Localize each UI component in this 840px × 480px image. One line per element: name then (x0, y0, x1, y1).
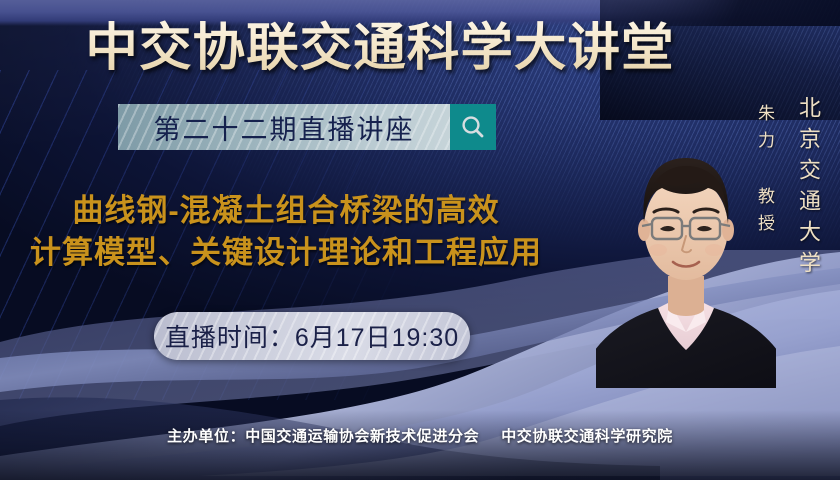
lecture-topic-line1: 曲线钢-混凝土组合桥梁的高效 (0, 190, 572, 232)
poster-root: 中交协联交通科学大讲堂 第二十二期直播讲座 曲线钢-混凝土组合桥梁的高效 计算模… (0, 0, 840, 480)
session-badge-label: 第二十二期直播讲座 (154, 108, 415, 147)
footer-organizer-1: 中国交通运输协会新技术促进分会 (245, 428, 479, 445)
broadcast-time-badge: 直播时间：6月17日19:30 (154, 312, 470, 360)
speaker-university: 北京交通大学 (792, 96, 824, 282)
search-icon-box[interactable] (450, 104, 496, 150)
broadcast-time-label: 直播时间：6月17日19:30 (165, 318, 459, 354)
footer-organizer-2: 中交协联交通科学研究院 (501, 428, 673, 445)
search-icon (460, 114, 486, 140)
lecture-topic-line2: 计算模型、关键设计理论和工程应用 (0, 232, 572, 274)
speaker-portrait (596, 126, 776, 388)
page-title: 中交协联交通科学大讲堂 (0, 16, 771, 82)
footer-organizers: 主办单位：中国交通运输协会新技术促进分会中交协联交通科学研究院 (0, 425, 840, 446)
footer-organizer-label: 主办单位： (167, 428, 245, 445)
lecture-topic: 曲线钢-混凝土组合桥梁的高效 计算模型、关键设计理论和工程应用 (0, 190, 572, 274)
session-badge: 第二十二期直播讲座 (118, 104, 450, 150)
speaker-name-title: 朱力 教授 (752, 104, 777, 241)
